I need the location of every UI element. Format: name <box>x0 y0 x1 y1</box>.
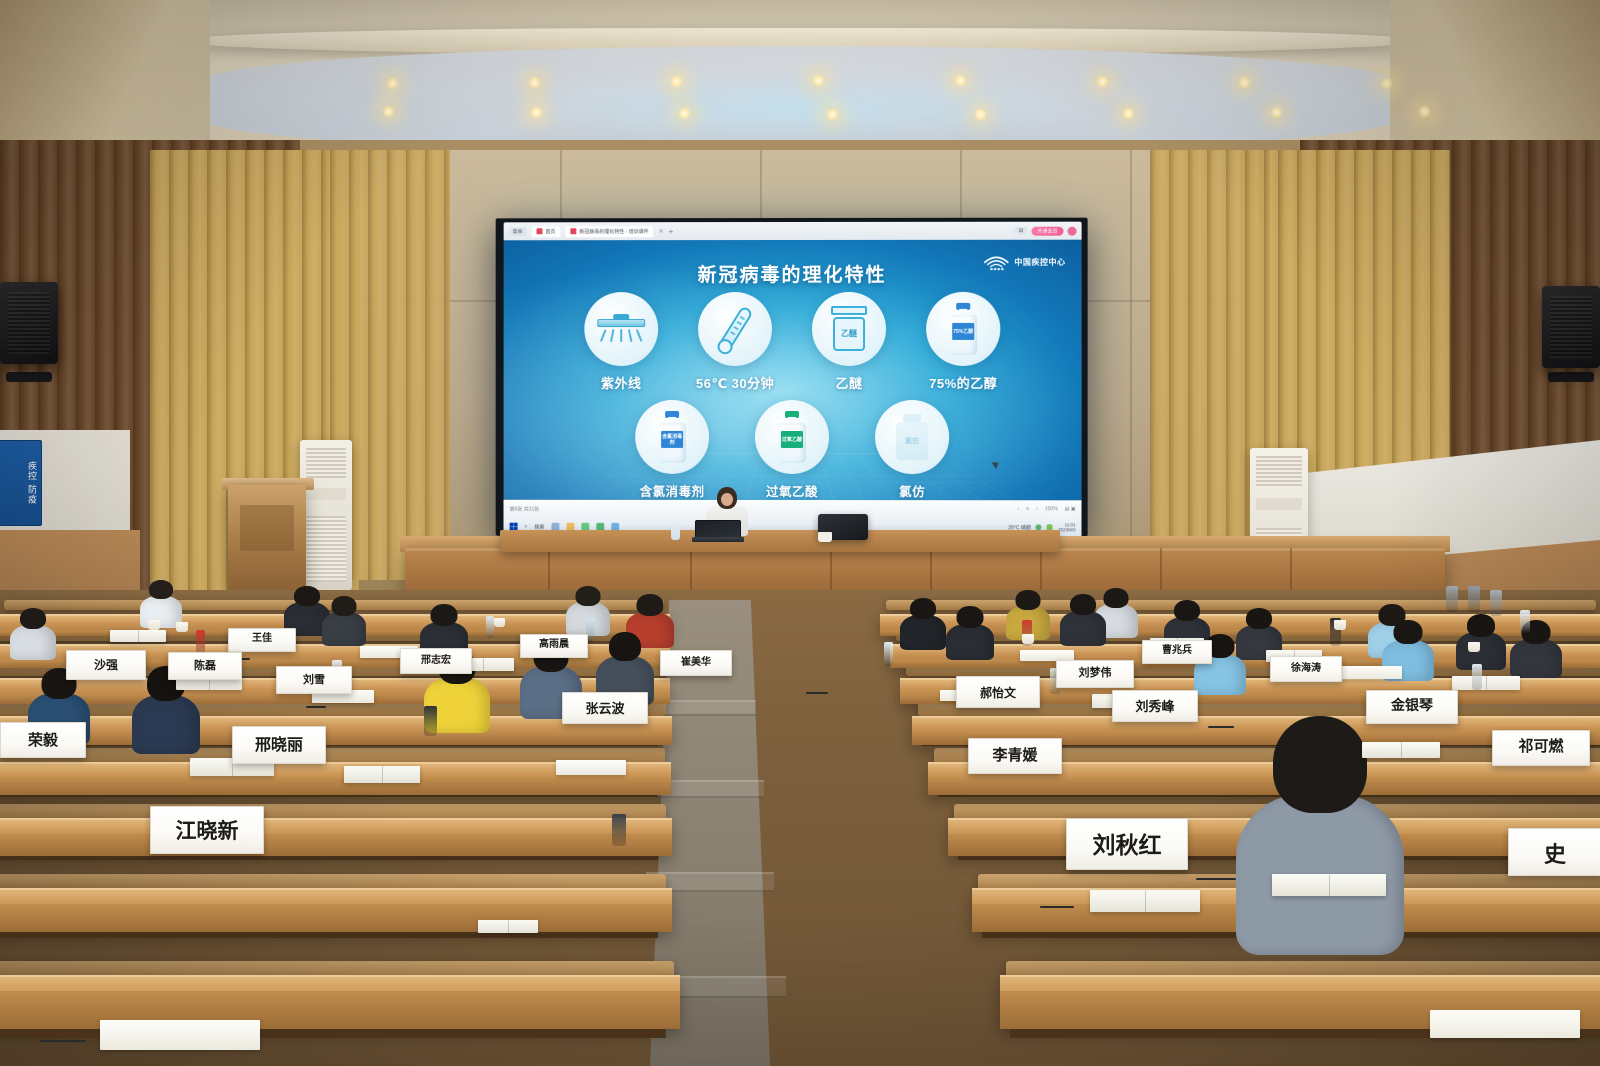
placard-name: 史 <box>1544 844 1566 875</box>
name-placard: 李青媛 <box>968 738 1062 774</box>
person-head <box>20 608 46 629</box>
browser-tab-label: 新冠病毒的理化特性 - 培训课件 <box>579 228 648 235</box>
water-bottle <box>1520 610 1530 634</box>
presenter-laptop <box>692 520 744 542</box>
person-head <box>609 632 641 661</box>
jar-icon: 乙醚 <box>829 306 869 352</box>
speaker-mount-right <box>1548 372 1594 382</box>
person-head <box>1467 614 1495 637</box>
tab-close-icon[interactable]: ✕ <box>659 228 664 235</box>
person-head <box>332 596 357 616</box>
browser-tab-active[interactable]: 新冠病毒的理化特性 - 培训课件 <box>565 226 653 237</box>
placard-name: 李青媛 <box>992 749 1037 773</box>
placard-name: 崔美华 <box>681 658 711 675</box>
pen <box>40 1040 86 1042</box>
name-placard: 荣毅 <box>0 722 86 758</box>
placard-name: 徐海涛 <box>1291 664 1321 681</box>
person-torso <box>322 612 366 646</box>
placard-name: 陈磊 <box>194 661 216 679</box>
slide-item-chlorine-disinfectant: 含氯消毒剂 含氯消毒剂 <box>626 400 718 500</box>
open-notebook <box>110 630 166 642</box>
cdc-emblem-icon <box>983 254 1009 271</box>
placard-name: 王佳 <box>252 634 272 651</box>
clock-date: 2023/8/3 <box>1058 527 1076 532</box>
paper-sheet <box>1340 666 1402 679</box>
placard-name: 刘雪 <box>303 675 325 693</box>
person-head <box>1246 608 1272 629</box>
slide-item-peracetic-acid: 过氧乙酸 过氧乙酸 <box>746 400 838 500</box>
aisle-step <box>656 780 764 798</box>
ceiling-downlight <box>812 74 825 87</box>
water-bottle <box>486 616 494 638</box>
person-torso <box>900 615 946 650</box>
name-placard: 陈磊 <box>168 652 242 680</box>
water-bottle <box>424 706 437 736</box>
wall-speaker-left <box>0 282 58 364</box>
speaker-mount-left <box>6 372 52 382</box>
placard-name: 曹兆兵 <box>1162 646 1192 663</box>
name-placard: 张云波 <box>562 692 648 724</box>
name-placard: 刘秀峰 <box>1112 690 1198 722</box>
icon-circle: 过氧乙酸 <box>755 400 829 474</box>
new-tab-icon[interactable]: + <box>669 227 674 236</box>
seated-person <box>1456 614 1506 668</box>
paper-cup <box>176 622 188 632</box>
ceiling-downlight <box>1096 75 1109 88</box>
pen <box>1208 726 1234 728</box>
placard-name: 邢晓丽 <box>255 738 303 763</box>
wall-speaker-right <box>1542 286 1600 368</box>
open-notebook <box>344 766 420 783</box>
water-bottle <box>612 814 626 846</box>
person-head <box>637 594 664 616</box>
name-placard: 高雨晨 <box>520 634 588 658</box>
name-placard: 徐海涛 <box>1270 656 1342 682</box>
presentation-footer-bar[interactable]: 第6张 共31张 ‹ ≡ › 100% ▤ ▣ <box>504 500 1082 519</box>
water-bottle <box>1446 586 1458 612</box>
slide-counter: 第6张 共31张 <box>510 505 540 512</box>
ac-unit-left <box>300 440 352 590</box>
slide-item-label: 75%的乙醇 <box>929 373 997 392</box>
ceiling-downlight <box>1122 107 1135 120</box>
head-table <box>500 530 1060 552</box>
vip-upgrade-button[interactable]: 开通会员 <box>1031 226 1063 235</box>
person-torso <box>132 695 200 754</box>
ceiling <box>0 0 1600 150</box>
aisle-step <box>664 700 756 716</box>
bottle-icon: 过氧乙酸 <box>778 411 806 463</box>
ceiling-downlight <box>954 74 967 87</box>
name-placard: 刘秋红 <box>1066 818 1188 870</box>
slide-item-label: 紫外线 <box>601 373 641 392</box>
ceiling-downlight <box>678 107 691 120</box>
desk-row <box>0 818 672 856</box>
placard-name: 邢志宏 <box>421 656 451 673</box>
ceiling-downlight <box>826 108 839 121</box>
bottle-icon: 含氯消毒剂 <box>658 411 686 463</box>
person-head <box>576 586 601 606</box>
name-placard: 曹兆兵 <box>1142 640 1212 664</box>
name-placard: 金银琴 <box>1366 690 1458 724</box>
paper-cup <box>818 532 832 542</box>
ceiling-left-bevel <box>0 0 210 160</box>
cdc-logo: 中国疾控中心 <box>983 254 1065 271</box>
slide-item-label: 过氧乙酸 <box>766 481 818 500</box>
icon-circle: 含氯消毒剂 <box>635 400 709 474</box>
ceiling-downlight <box>530 106 543 119</box>
person-head <box>957 606 984 628</box>
icon-circle <box>698 292 772 366</box>
placard-name: 高雨晨 <box>539 640 569 657</box>
person-torso <box>1060 611 1106 646</box>
slide-item-label: 乙醚 <box>835 373 862 392</box>
ceiling-downlight <box>1270 106 1283 119</box>
paper-cup <box>494 618 505 627</box>
placard-name: 祁可燃 <box>1518 740 1563 765</box>
slide-item-label: 含氯消毒剂 <box>640 481 705 500</box>
presentation-slide: 新冠病毒的理化特性 中国疾控中心 <box>504 240 1082 501</box>
slide-item-ethanol: 75%乙醇 75%的乙醇 <box>917 292 1009 392</box>
pen <box>306 706 326 708</box>
name-placard: 郝怡文 <box>956 676 1040 708</box>
slide-menu-button[interactable]: ≡ <box>1026 506 1029 512</box>
lectern-panel <box>240 505 294 551</box>
open-notebook <box>1090 890 1200 912</box>
ceiling-downlight <box>670 75 683 88</box>
person-head <box>1016 590 1041 610</box>
uv-lamp-icon <box>597 309 645 349</box>
paper-cup <box>1022 634 1034 644</box>
seated-person <box>1510 620 1562 676</box>
person-head <box>149 580 173 599</box>
pen <box>1196 878 1236 880</box>
placard-name: 沙强 <box>94 659 118 679</box>
placard-name: 金银琴 <box>1391 700 1433 723</box>
name-placard: 沙强 <box>66 650 146 680</box>
ceiling-glow <box>520 72 1080 146</box>
bottle-icon: 75%乙醇 <box>949 303 977 355</box>
seated-person <box>322 596 366 644</box>
person-torso <box>946 624 994 660</box>
cdc-logo-text: 中国疾控中心 <box>1014 257 1065 268</box>
slide-item-label: 氯仿 <box>899 481 925 500</box>
open-notebook <box>1272 874 1386 896</box>
paper-cup <box>148 620 160 630</box>
water-bottle <box>1468 586 1480 612</box>
seated-person <box>10 608 56 658</box>
jar-label: 乙醚 <box>841 330 857 338</box>
placard-name: 刘秋红 <box>1093 834 1162 869</box>
account-avatar[interactable] <box>1068 226 1077 235</box>
tab-favicon-icon <box>570 228 576 234</box>
sidebar-toggle-icon[interactable]: ▤ <box>1015 227 1028 235</box>
person-head <box>294 586 320 606</box>
paper-sheet <box>556 760 626 775</box>
name-placard: 邢晓丽 <box>232 726 326 764</box>
placard-name: 江晓新 <box>176 821 239 853</box>
open-notebook <box>478 920 538 933</box>
pen <box>806 692 828 694</box>
taskbar-clock[interactable]: 11:01 2023/8/3 <box>1058 522 1076 532</box>
person-head <box>1104 588 1129 608</box>
browser-menu-button[interactable]: 菜单 <box>509 227 527 236</box>
view-mode-icon[interactable]: ▤ ▣ <box>1065 506 1076 512</box>
name-placard: 江晓新 <box>150 806 264 854</box>
name-placard: 祁可燃 <box>1492 730 1590 766</box>
paper-cup <box>1334 620 1346 630</box>
name-placard: 史 <box>1508 828 1600 876</box>
browser-chrome[interactable]: 菜单 首页 新冠病毒的理化特性 - 培训课件 ✕ + ▤ 开通会员 <box>504 222 1082 241</box>
name-placard: 邢志宏 <box>400 648 472 674</box>
person-head <box>910 598 936 619</box>
desk-row <box>0 888 672 932</box>
wall-notice-sign: 疾控 防疫 <box>0 440 42 526</box>
slide-icon-row-2: 含氯消毒剂 含氯消毒剂 过氧乙酸 过氧乙酸 <box>504 400 1082 500</box>
slide-item-label: 56℃ 30分钟 <box>696 373 774 392</box>
person-torso <box>1510 639 1562 678</box>
ceiling-downlight <box>1238 76 1251 89</box>
thermometer-icon <box>717 305 753 353</box>
open-notebook <box>1362 742 1440 758</box>
placard-name: 刘梦伟 <box>1079 668 1112 687</box>
panel-seam <box>1130 150 1132 570</box>
prev-slide-button[interactable]: ‹ <box>1017 506 1019 512</box>
slide-item-ether: 乙醚 乙醚 <box>803 292 895 392</box>
water-bottle <box>884 642 893 666</box>
person-head <box>1394 620 1423 644</box>
paper-sheet <box>1430 1010 1580 1038</box>
seated-person <box>946 606 994 658</box>
search-icon[interactable]: ⌕ <box>525 524 528 530</box>
slide-item-uv: 紫外线 <box>575 292 667 392</box>
jar-faded-icon: 氯仿 <box>896 414 928 460</box>
placard-name: 郝怡文 <box>980 687 1016 707</box>
name-placard: 崔美华 <box>660 650 732 676</box>
water-bottle <box>1472 664 1482 690</box>
bottle-label: 75%乙醇 <box>952 323 974 340</box>
person-head <box>431 604 458 626</box>
seated-person <box>140 580 182 626</box>
icon-circle: 75%乙醇 <box>926 292 1000 366</box>
water-bottle <box>1490 590 1502 616</box>
name-placard: 刘雪 <box>276 666 352 694</box>
lecture-hall-scene: 疾控 防疫 菜单 首页 新冠病毒的理化特性 - 培训课件 ✕ + ▤ 开通会员 <box>0 0 1600 1066</box>
person-head <box>1070 594 1096 615</box>
ceiling-downlight <box>974 108 987 121</box>
person-torso <box>10 625 56 660</box>
icon-circle <box>584 292 658 366</box>
name-placard: 王佳 <box>228 628 296 652</box>
placard-name: 刘秀峰 <box>1135 700 1174 721</box>
slide-icon-row-1: 紫外线 56℃ 30分钟 <box>504 292 1082 392</box>
pen <box>1040 906 1074 908</box>
person-head <box>1174 600 1200 621</box>
paper-sheet <box>100 1020 260 1050</box>
seated-person <box>900 598 946 648</box>
placard-name: 荣毅 <box>28 734 58 757</box>
paper-cup <box>1468 642 1480 652</box>
ceiling-downlight <box>528 76 541 89</box>
bottle-label: 过氧乙酸 <box>781 431 803 448</box>
slide-item-chloroform: 氯仿 氯仿 <box>866 400 958 500</box>
water-bottle <box>196 630 205 654</box>
browser-tab-label: 首页 <box>545 228 555 235</box>
bottle-label: 含氯消毒剂 <box>661 431 683 448</box>
ceiling-right-bevel <box>1390 0 1600 160</box>
placard-name: 张云波 <box>585 702 624 723</box>
icon-circle: 氯仿 <box>875 400 949 474</box>
browser-tab-home[interactable]: 首页 <box>532 226 561 237</box>
slide-item-temperature: 56℃ 30分钟 <box>689 292 781 392</box>
icon-circle: 乙醚 <box>812 292 886 366</box>
zoom-level[interactable]: 100% <box>1045 506 1058 512</box>
open-notebook <box>1452 676 1520 690</box>
presenter-water-bottle <box>671 518 680 540</box>
seated-person <box>1060 594 1106 644</box>
name-placard: 刘梦伟 <box>1056 660 1134 688</box>
next-slide-button[interactable]: › <box>1036 506 1038 512</box>
jar-label: 氯仿 <box>905 436 919 446</box>
tab-favicon-icon <box>537 228 543 234</box>
person-head <box>1273 716 1367 813</box>
projection-screen: 菜单 首页 新冠病毒的理化特性 - 培训课件 ✕ + ▤ 开通会员 新冠病毒的理… <box>496 218 1088 537</box>
